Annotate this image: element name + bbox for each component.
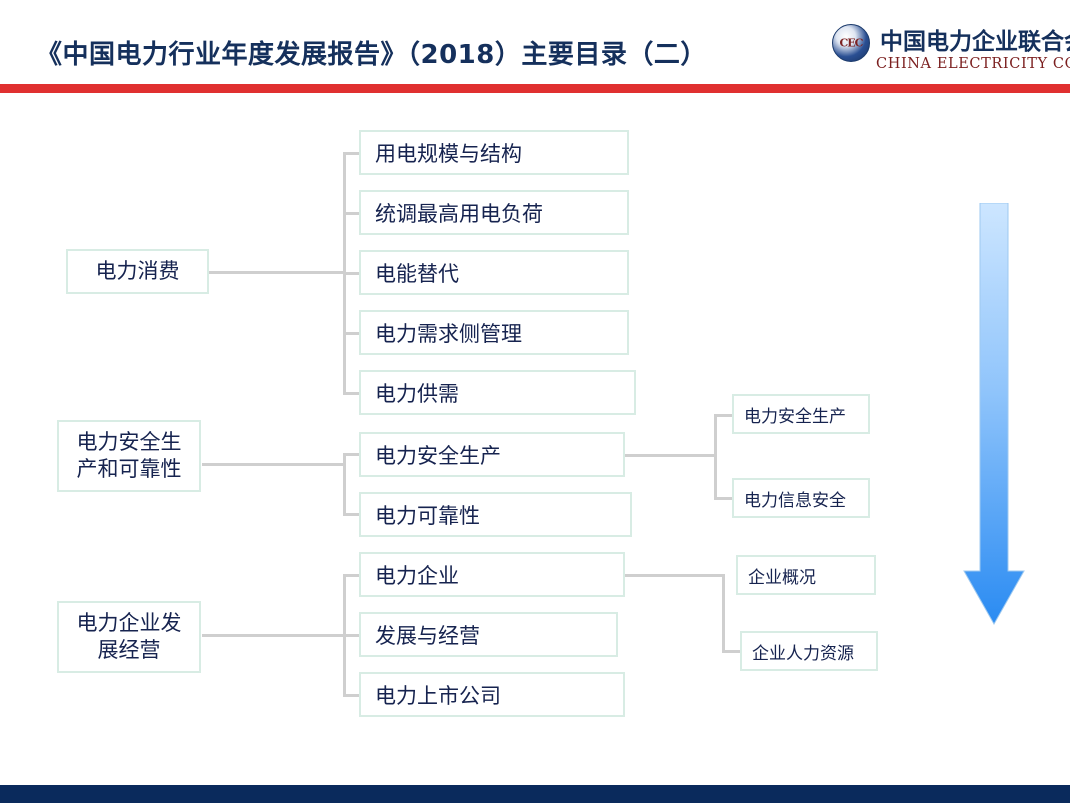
cec-emblem-icon	[832, 24, 870, 62]
connector-h-group1-child5	[343, 392, 360, 395]
node-label: 企业人力资源	[752, 639, 854, 664]
connector-h-group3-child1	[343, 574, 360, 577]
connector-h-group3-child3	[343, 694, 360, 697]
node-label: 电力安全生产	[744, 402, 846, 427]
node-label: 统调最高用电负荷	[375, 198, 543, 228]
node-level3-power-information-security[interactable]: 电力信息安全	[732, 478, 870, 518]
connector-h-enterprise-stem	[625, 574, 725, 577]
node-label: 电力需求侧管理	[375, 318, 522, 348]
node-label: 电力上市公司	[375, 680, 501, 710]
logo-name-cn: 中国电力企业联合会	[880, 22, 1070, 56]
node-level2-electric-substitution[interactable]: 电能替代	[359, 250, 629, 295]
node-level3-enterprise-human-resources[interactable]: 企业人力资源	[740, 631, 878, 671]
node-level1-enterprise-development[interactable]: 电力企业发 展经营	[57, 601, 201, 673]
connector-h-group3-child2	[343, 634, 360, 637]
node-label: 电能替代	[375, 258, 459, 288]
node-label: 电力安全生 产和可靠性	[77, 429, 182, 483]
header-red-rule	[0, 84, 1070, 93]
node-level2-supply-demand[interactable]: 电力供需	[359, 370, 636, 415]
connector-h-group1-child3	[343, 272, 360, 275]
node-level2-demand-side-management[interactable]: 电力需求侧管理	[359, 310, 629, 355]
node-label: 电力可靠性	[375, 500, 480, 530]
connector-h-group1-child1	[343, 152, 360, 155]
connector-h-group3-stem	[202, 634, 345, 637]
connector-h-group2-child2	[343, 513, 360, 516]
node-label: 用电规模与结构	[375, 138, 522, 168]
connector-v-group2-spine	[343, 453, 346, 515]
node-label: 电力企业发 展经营	[77, 610, 182, 664]
connector-h-safety-child1	[714, 414, 732, 417]
node-label: 电力信息安全	[744, 486, 846, 511]
node-level1-power-consumption[interactable]: 电力消费	[66, 249, 209, 294]
node-level2-power-safety-production[interactable]: 电力安全生产	[359, 432, 625, 477]
node-level2-power-enterprise[interactable]: 电力企业	[359, 552, 625, 597]
page-title: 《中国电力行业年度发展报告》（2018）主要目录（二）	[36, 34, 707, 71]
node-label: 电力供需	[375, 378, 459, 408]
connector-h-group1-child2	[343, 212, 360, 215]
connector-h-safety-child2	[714, 497, 732, 500]
node-level2-development-operation[interactable]: 发展与经营	[359, 612, 618, 657]
connector-h-safety-stem	[625, 454, 717, 457]
connector-h-enterprise-child2	[722, 650, 740, 653]
node-level2-power-reliability[interactable]: 电力可靠性	[359, 492, 632, 537]
node-level2-listed-companies[interactable]: 电力上市公司	[359, 672, 625, 717]
organization-logo: 中国电力企业联合会 CHINA ELECTRICITY COUNCIL	[832, 22, 1064, 80]
node-label: 电力企业	[375, 560, 459, 590]
connector-h-group2-child1	[343, 453, 360, 456]
connector-h-group2-stem	[202, 463, 345, 466]
connector-v-enterprise-spine	[722, 574, 725, 652]
connector-h-group1-child4	[343, 332, 360, 335]
node-label: 企业概况	[748, 563, 816, 588]
node-level1-power-safety-reliability[interactable]: 电力安全生 产和可靠性	[57, 420, 201, 492]
node-level2-consumption-scale-structure[interactable]: 用电规模与结构	[359, 130, 629, 175]
node-label: 电力消费	[96, 258, 180, 285]
node-level3-enterprise-overview[interactable]: 企业概况	[736, 555, 876, 595]
node-level2-peak-load[interactable]: 统调最高用电负荷	[359, 190, 629, 235]
slide-canvas: 《中国电力行业年度发展报告》（2018）主要目录（二） 中国电力企业联合会 CH…	[0, 0, 1070, 803]
connector-h-group1-stem	[209, 271, 345, 274]
node-label: 发展与经营	[375, 620, 480, 650]
down-arrow-icon	[963, 203, 1025, 625]
node-label: 电力安全生产	[375, 440, 501, 470]
node-level3-power-safety-production[interactable]: 电力安全生产	[732, 394, 870, 434]
footer-bar	[0, 785, 1070, 803]
logo-name-en: CHINA ELECTRICITY COUNCIL	[876, 56, 1070, 72]
connector-v-safety-spine	[714, 414, 717, 498]
